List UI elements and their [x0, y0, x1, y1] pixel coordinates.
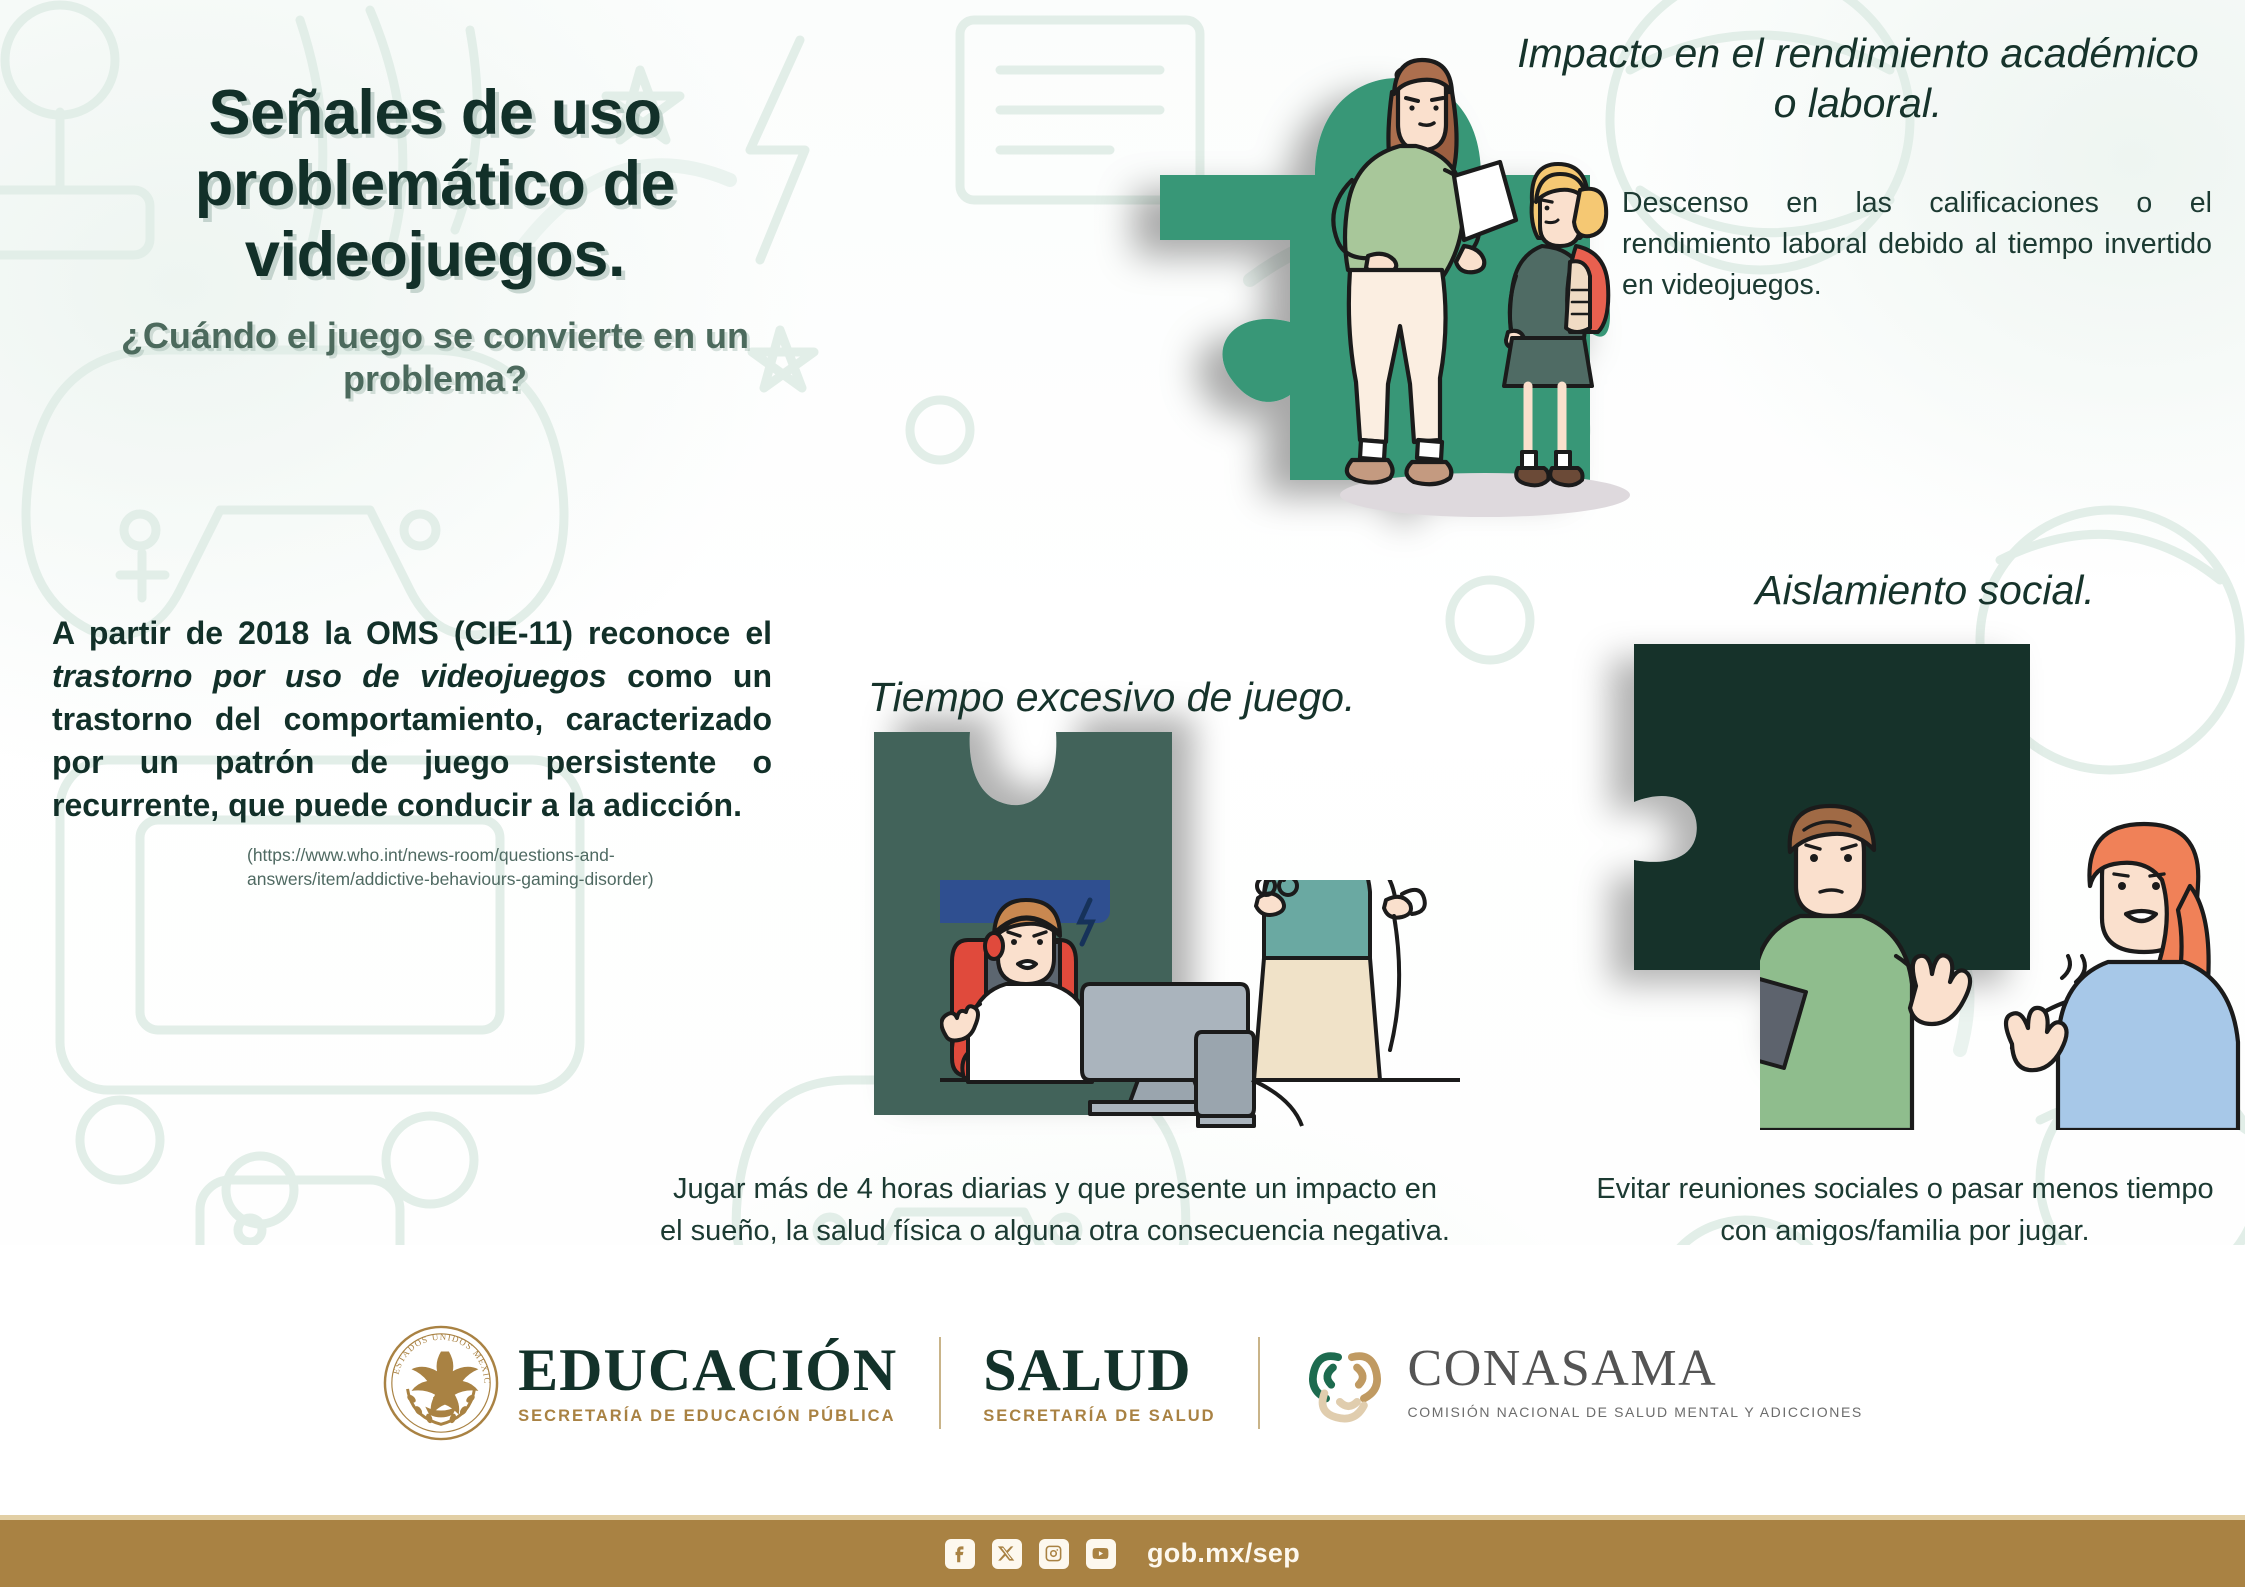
- logo-conasama: CONASAMA COMISIÓN NACIONAL DE SALUD MENT…: [1302, 1340, 1863, 1426]
- x-twitter-icon[interactable]: [992, 1539, 1022, 1569]
- educacion-wordmark: EDUCACIÓN SECRETARÍA DE EDUCACIÓN PÚBLIC…: [518, 1340, 897, 1426]
- infographic-poster: Señales de uso problemático de videojueg…: [0, 0, 2245, 1587]
- caption-isolation: Evitar reuniones sociales o pasar menos …: [1595, 1168, 2215, 1252]
- mexican-coat-of-arms-icon: ESTADOS UNIDOS MEXICANOS: [382, 1324, 500, 1442]
- conasama-subtitle: COMISIÓN NACIONAL DE SALUD MENTAL Y ADIC…: [1408, 1403, 1863, 1422]
- facebook-icon[interactable]: [945, 1539, 975, 1569]
- page-subtitle: ¿Cuándo el juego se convierte en un prob…: [40, 314, 830, 400]
- title-line-1: Señales de uso: [208, 78, 661, 148]
- conasama-symbol-icon: [1302, 1340, 1388, 1426]
- page-title: Señales de uso problemático de videojueg…: [40, 78, 830, 292]
- heading-time: Tiempo excesivo de juego.: [868, 672, 1508, 722]
- definition-source-url: (https://www.who.int/news-room/questions…: [247, 844, 772, 891]
- salud-subtitle: SECRETARÍA DE SALUD: [983, 1407, 1215, 1426]
- conasama-wordmark: CONASAMA COMISIÓN NACIONAL DE SALUD MENT…: [1408, 1343, 1863, 1422]
- title-line-2: problemático de: [195, 149, 676, 219]
- headline-block: Señales de uso problemático de videojueg…: [40, 78, 830, 400]
- logo-educacion: ESTADOS UNIDOS MEXICANOS EDUCACIÓN SECRE…: [382, 1324, 897, 1442]
- logo-divider-2: [1258, 1337, 1260, 1429]
- caption-time: Jugar más de 4 horas diarias y que prese…: [660, 1168, 1450, 1252]
- boy-gaming-at-night-mother-unplugging-illustration: [940, 880, 1460, 1130]
- salud-name: SALUD: [983, 1340, 1215, 1400]
- body-academic: Descenso en las calificaciones o el rend…: [1622, 183, 2212, 306]
- conasama-name: CONASAMA: [1408, 1343, 1863, 1395]
- salud-wordmark: SALUD SECRETARÍA DE SALUD: [983, 1340, 1215, 1426]
- logo-salud: SALUD SECRETARÍA DE SALUD: [983, 1340, 1215, 1426]
- youtube-icon[interactable]: [1086, 1539, 1116, 1569]
- heading-isolation: Aislamiento social.: [1625, 565, 2225, 615]
- educacion-subtitle: SECRETARÍA DE EDUCACIÓN PÚBLICA: [518, 1407, 897, 1426]
- instagram-icon[interactable]: [1039, 1539, 1069, 1569]
- social-bar: gob.mx/sep: [0, 1520, 2245, 1587]
- definition-emphasis: trastorno por uso de videojuegos: [52, 658, 607, 694]
- logo-divider-1: [939, 1337, 941, 1429]
- who-definition-block: A partir de 2018 la OMS (CIE-11) reconoc…: [52, 612, 772, 892]
- footer-logos: ESTADOS UNIDOS MEXICANOS EDUCACIÓN SECRE…: [0, 1245, 2245, 1520]
- title-line-3: videojuegos.: [245, 220, 625, 290]
- heading-academic: Impacto en el rendimiento académico o la…: [1508, 28, 2208, 128]
- man-on-phone-ignoring-woman-illustration: [1760, 790, 2245, 1130]
- definition-part-1: A partir de 2018 la OMS (CIE-11) reconoc…: [52, 615, 772, 651]
- educacion-name: EDUCACIÓN: [518, 1340, 897, 1400]
- gob-mx-url[interactable]: gob.mx/sep: [1147, 1538, 1300, 1569]
- definition-paragraph: A partir de 2018 la OMS (CIE-11) reconoc…: [52, 612, 772, 826]
